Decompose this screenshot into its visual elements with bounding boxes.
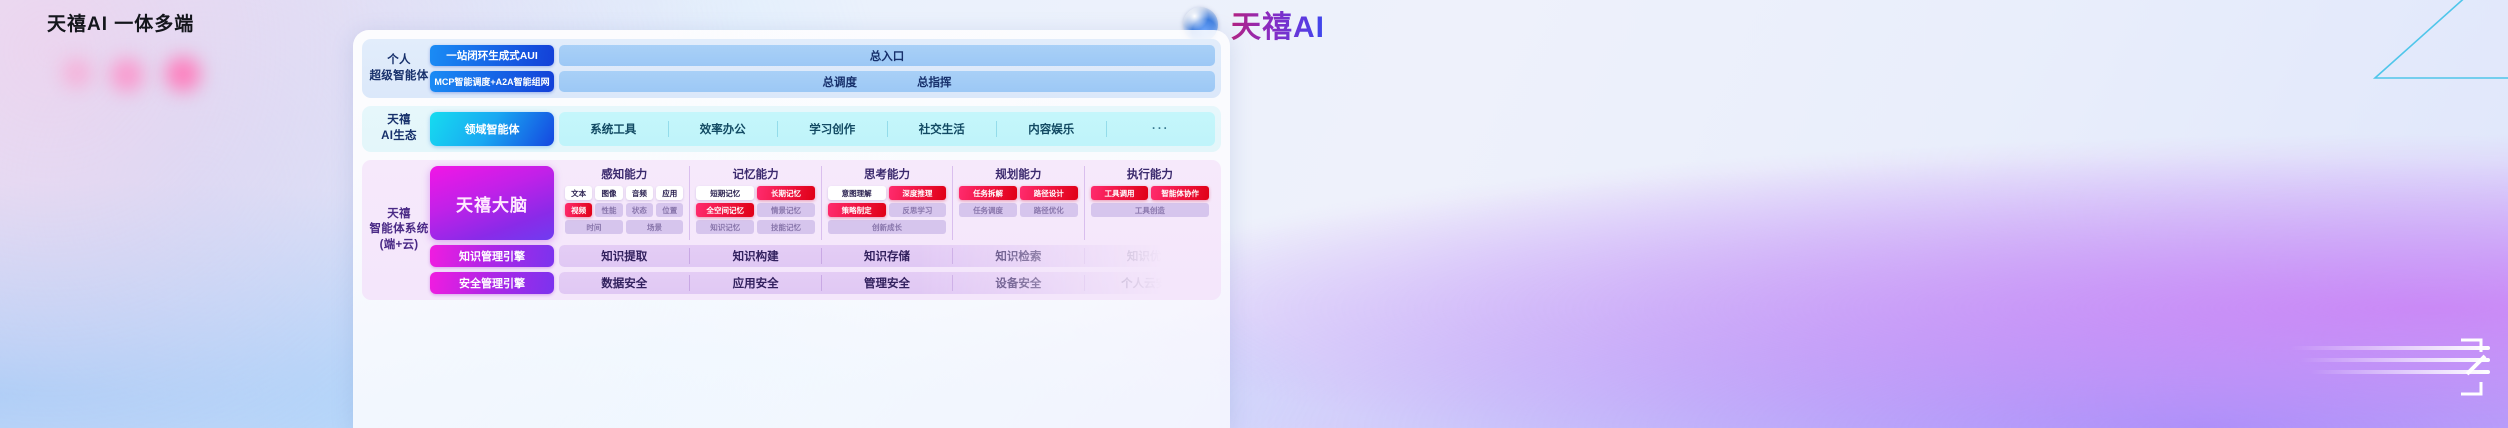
brain-box[interactable]: 天禧大脑 [430, 166, 554, 240]
engine-cell[interactable]: 知识优化 [1085, 248, 1215, 264]
band3-label-line3: (端+云) [380, 238, 419, 254]
capability-chips: 文本图像音频应用视频性能状态位置时间场景 [565, 186, 683, 234]
capability-chip[interactable]: 视频 [565, 203, 592, 217]
engine-cell[interactable]: 数据安全 [559, 275, 690, 291]
cell-command[interactable]: 总指挥 [917, 74, 952, 90]
ecosystem-items: 系统工具 效率办公 学习创作 社交生活 内容娱乐 ··· [559, 112, 1215, 146]
capability-chip[interactable]: 状态 [626, 203, 653, 217]
capability-title: 记忆能力 [696, 166, 814, 182]
capability-chip[interactable]: 长期记忆 [757, 186, 815, 200]
decor-dot-3 [165, 56, 201, 92]
engine-cell[interactable]: 知识提取 [559, 248, 690, 264]
capability-chip[interactable]: 策略制定 [828, 203, 886, 217]
capability-chips: 意图理解深度推理策略制定反思学习创新成长 [828, 186, 946, 234]
capability-chip[interactable]: 文本 [565, 186, 592, 200]
capability-chip[interactable]: 技能记忆 [757, 220, 815, 234]
capability-chip[interactable]: 智能体协作 [1151, 186, 1209, 200]
band1-bottom-cells: 总调度 总指挥 [559, 71, 1215, 92]
band-ai-ecosystem: 天禧 AI生态 领域智能体 系统工具 效率办公 学习创作 社交生活 内容娱乐 ·… [362, 106, 1221, 152]
capability-chip[interactable]: 任务调度 [959, 203, 1017, 217]
capability-column-4: 执行能力工具调用智能体协作工具创造 [1085, 166, 1215, 240]
capability-chips: 任务拆解路径设计任务调度路径优化 [959, 186, 1077, 217]
brand-title: 天禧AI [1231, 2, 1325, 46]
band1-cells: 总入口 总调度 总指挥 [559, 45, 1215, 92]
band1-label-line1: 个人 [387, 53, 411, 69]
band1-pill-column: 一站闭环生成式AUI MCP智能调度+A2A智能组网 [430, 45, 554, 92]
capability-chips: 短期记忆长期记忆全空间记忆情景记忆知识记忆技能记忆 [696, 186, 814, 234]
engine-cell[interactable]: 设备安全 [953, 275, 1084, 291]
engine-cell[interactable]: 知识存储 [822, 248, 953, 264]
band1-label-line2: 超级智能体 [370, 69, 429, 85]
security-cells: 数据安全应用安全管理安全设备安全个人云安全 [559, 272, 1215, 294]
band-personal-super-agent: 个人 超级智能体 一站闭环生成式AUI MCP智能调度+A2A智能组网 总入口 … [362, 39, 1221, 98]
band3-label: 天禧 智能体系统 (端+云) [368, 166, 430, 294]
capability-chip[interactable]: 位置 [656, 203, 683, 217]
eco-item-1[interactable]: 效率办公 [669, 121, 779, 137]
eco-item-2[interactable]: 学习创作 [778, 121, 888, 137]
capability-chip[interactable]: 路径优化 [1020, 203, 1078, 217]
eco-item-0[interactable]: 系统工具 [559, 121, 669, 137]
capability-chip[interactable]: 创新成长 [828, 220, 946, 234]
decor-chevron-1 [2290, 346, 2490, 350]
decor-chevron-2 [2300, 358, 2490, 362]
engine-row-knowledge: 知识管理引擎 知识提取知识构建知识存储知识检索知识优化 [430, 245, 1215, 267]
capability-column-2: 思考能力意图理解深度推理策略制定反思学习创新成长 [822, 166, 953, 240]
engine-cell[interactable]: 知识构建 [690, 248, 821, 264]
decor-arrow-icon [2455, 336, 2497, 398]
pill-mcp-a2a[interactable]: MCP智能调度+A2A智能组网 [430, 71, 554, 92]
decor-dot-2 [110, 58, 144, 92]
engine-cell[interactable]: 应用安全 [690, 275, 821, 291]
capability-chip[interactable]: 意图理解 [828, 186, 886, 200]
pill-security-engine[interactable]: 安全管理引擎 [430, 272, 554, 294]
band2-label-line1: 天禧 [387, 113, 411, 129]
pill-aui[interactable]: 一站闭环生成式AUI [430, 45, 554, 66]
capability-title: 思考能力 [828, 166, 946, 182]
capability-chip[interactable]: 路径设计 [1020, 186, 1078, 200]
capability-chip[interactable]: 深度推理 [889, 186, 947, 200]
capability-chip[interactable]: 知识记忆 [696, 220, 754, 234]
decor-dot-1 [62, 58, 92, 88]
capability-columns: 感知能力文本图像音频应用视频性能状态位置时间场景记忆能力短期记忆长期记忆全空间记… [559, 166, 1215, 240]
capability-chip[interactable]: 性能 [595, 203, 622, 217]
capability-chip[interactable]: 工具创造 [1091, 203, 1209, 217]
engine-cell[interactable]: 管理安全 [822, 275, 953, 291]
band3-label-line2: 智能体系统 [370, 222, 429, 238]
capability-title: 规划能力 [959, 166, 1077, 182]
capability-chip[interactable]: 工具调用 [1091, 186, 1149, 200]
band-agent-system: 天禧 智能体系统 (端+云) 天禧大脑 感知能力文本图像音频应用视频性能状态位置… [362, 160, 1221, 300]
capability-chip[interactable]: 场景 [626, 220, 684, 234]
engine-cell[interactable]: 个人云安全 [1085, 275, 1215, 291]
engine-cell[interactable]: 知识检索 [953, 248, 1084, 264]
band2-label: 天禧 AI生态 [368, 112, 430, 146]
capability-column-1: 记忆能力短期记忆长期记忆全空间记忆情景记忆知识记忆技能记忆 [690, 166, 821, 240]
capability-chips: 工具调用智能体协作工具创造 [1091, 186, 1209, 217]
capability-title: 感知能力 [565, 166, 683, 182]
capability-column-3: 规划能力任务拆解路径设计任务调度路径优化 [953, 166, 1084, 240]
capability-column-0: 感知能力文本图像音频应用视频性能状态位置时间场景 [559, 166, 690, 240]
capability-chip[interactable]: 情景记忆 [757, 203, 815, 217]
capability-chip[interactable]: 反思学习 [889, 203, 947, 217]
cell-dispatch[interactable]: 总调度 [823, 74, 858, 90]
capability-chip[interactable]: 全空间记忆 [696, 203, 754, 217]
capability-chip[interactable]: 短期记忆 [696, 186, 754, 200]
band1-label: 个人 超级智能体 [368, 45, 430, 92]
band3-label-line1: 天禧 [387, 207, 411, 223]
architecture-panel: 个人 超级智能体 一站闭环生成式AUI MCP智能调度+A2A智能组网 总入口 … [353, 30, 1230, 428]
capability-chip[interactable]: 应用 [656, 186, 683, 200]
cell-main-entry[interactable]: 总入口 [559, 45, 1215, 66]
pill-knowledge-engine[interactable]: 知识管理引擎 [430, 245, 554, 267]
brain-and-capabilities: 天禧大脑 感知能力文本图像音频应用视频性能状态位置时间场景记忆能力短期记忆长期记… [430, 166, 1215, 240]
band2-label-line2: AI生态 [381, 129, 417, 145]
eco-item-4[interactable]: 内容娱乐 [997, 121, 1107, 137]
eco-item-3[interactable]: 社交生活 [888, 121, 998, 137]
capability-chip[interactable]: 图像 [595, 186, 622, 200]
capability-title: 执行能力 [1091, 166, 1209, 182]
capability-chip[interactable]: 任务拆解 [959, 186, 1017, 200]
eco-item-more[interactable]: ··· [1107, 123, 1216, 135]
decor-chevron-3 [2310, 370, 2490, 374]
pill-domain-agent[interactable]: 领域智能体 [430, 112, 554, 146]
capability-chip[interactable]: 时间 [565, 220, 623, 234]
knowledge-cells: 知识提取知识构建知识存储知识检索知识优化 [559, 245, 1215, 267]
band3-body: 天禧大脑 感知能力文本图像音频应用视频性能状态位置时间场景记忆能力短期记忆长期记… [430, 166, 1215, 294]
engine-row-security: 安全管理引擎 数据安全应用安全管理安全设备安全个人云安全 [430, 272, 1215, 294]
capability-chip[interactable]: 音频 [626, 186, 653, 200]
